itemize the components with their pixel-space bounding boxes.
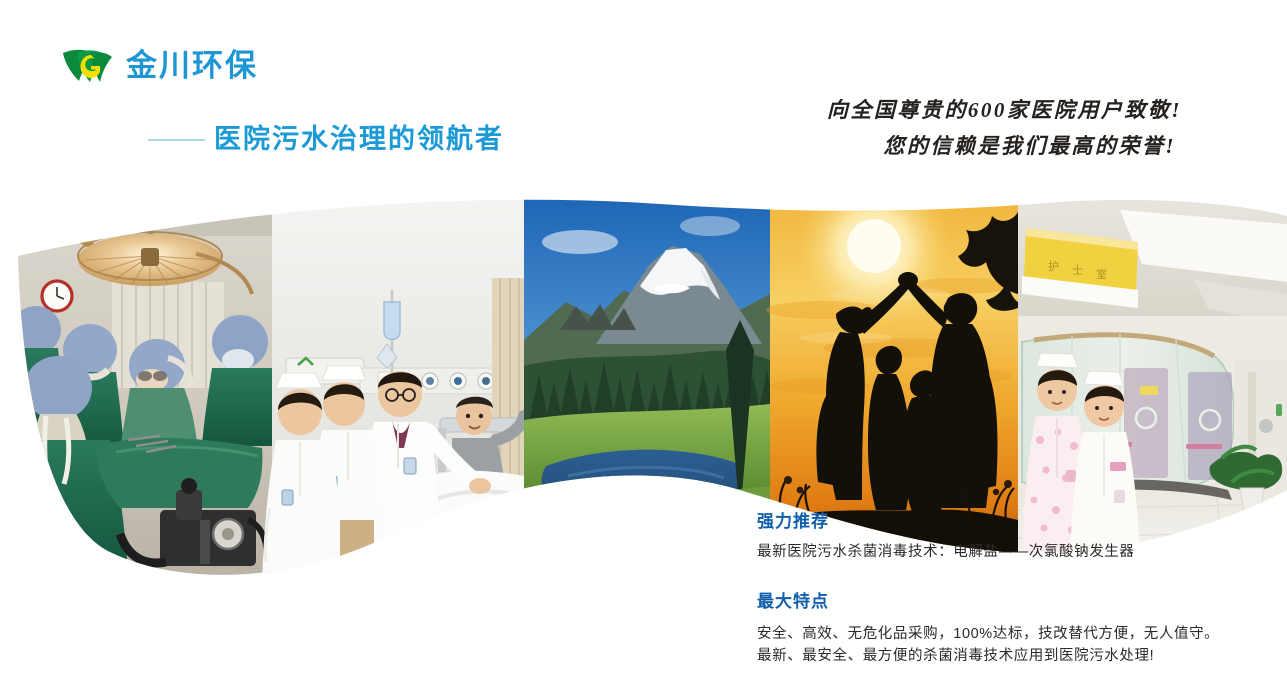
section-strong-recommendation: 强力推荐 最新医院污水杀菌消毒技术：电解盐——次氯酸钠发生器 [757,513,1257,563]
features-heading: 最大特点 [757,593,1257,610]
panel-mountain-lake [524,190,776,580]
nurse-cap-icon [322,366,366,380]
salute-line-1: 向全国尊贵的600家医院用户致敬! [827,92,1182,128]
panel-operating-room [0,190,272,580]
features-line-2: 最新、最安全、最方便的杀菌消毒技术应用到医院污水处理! [757,645,1257,667]
svg-text:室: 室 [1096,267,1107,281]
ward-sign: 护士室 [1022,228,1138,308]
recommendation-heading: 强力推荐 [757,513,1257,530]
company-name: 金川环保 [126,50,258,81]
promo-copy-block: 强力推荐 最新医院污水杀菌消毒技术：电解盐——次氯酸钠发生器 最大特点 安全、高… [757,513,1257,667]
salute-line-2: 您的信赖是我们最高的荣誉! [827,128,1182,164]
recommendation-line-1: 最新医院污水杀菌消毒技术：电解盐——次氯酸钠发生器 [757,541,1257,563]
salute-block: 向全国尊贵的600家医院用户致敬! 您的信赖是我们最高的荣誉! [827,92,1182,164]
wildflowers [540,520,758,578]
page-header: 金川环保 医院污水治理的领航者 向全国尊贵的600家医院用户致敬! 您的信赖是我… [0,0,1287,195]
features-line-1: 安全、高效、无危化品采购，100%达标，技改替代方便，无人值守。 [757,623,1257,645]
tagline-row: 医院污水治理的领航者 [148,126,504,153]
company-logo-icon [60,45,112,85]
brand-block: 金川环保 [60,45,258,85]
tagline-rule [148,139,205,141]
svg-text:心: 心 [482,532,491,542]
section-key-features: 最大特点 安全、高效、无危化品采购，100%达标，技改替代方便，无人值守。 最新… [757,593,1257,667]
panel-ward-round: 心 [262,190,524,580]
svg-text:护: 护 [1048,259,1059,273]
tagline-text: 医院污水治理的领航者 [214,126,504,153]
svg-text:士: 士 [1072,264,1083,277]
